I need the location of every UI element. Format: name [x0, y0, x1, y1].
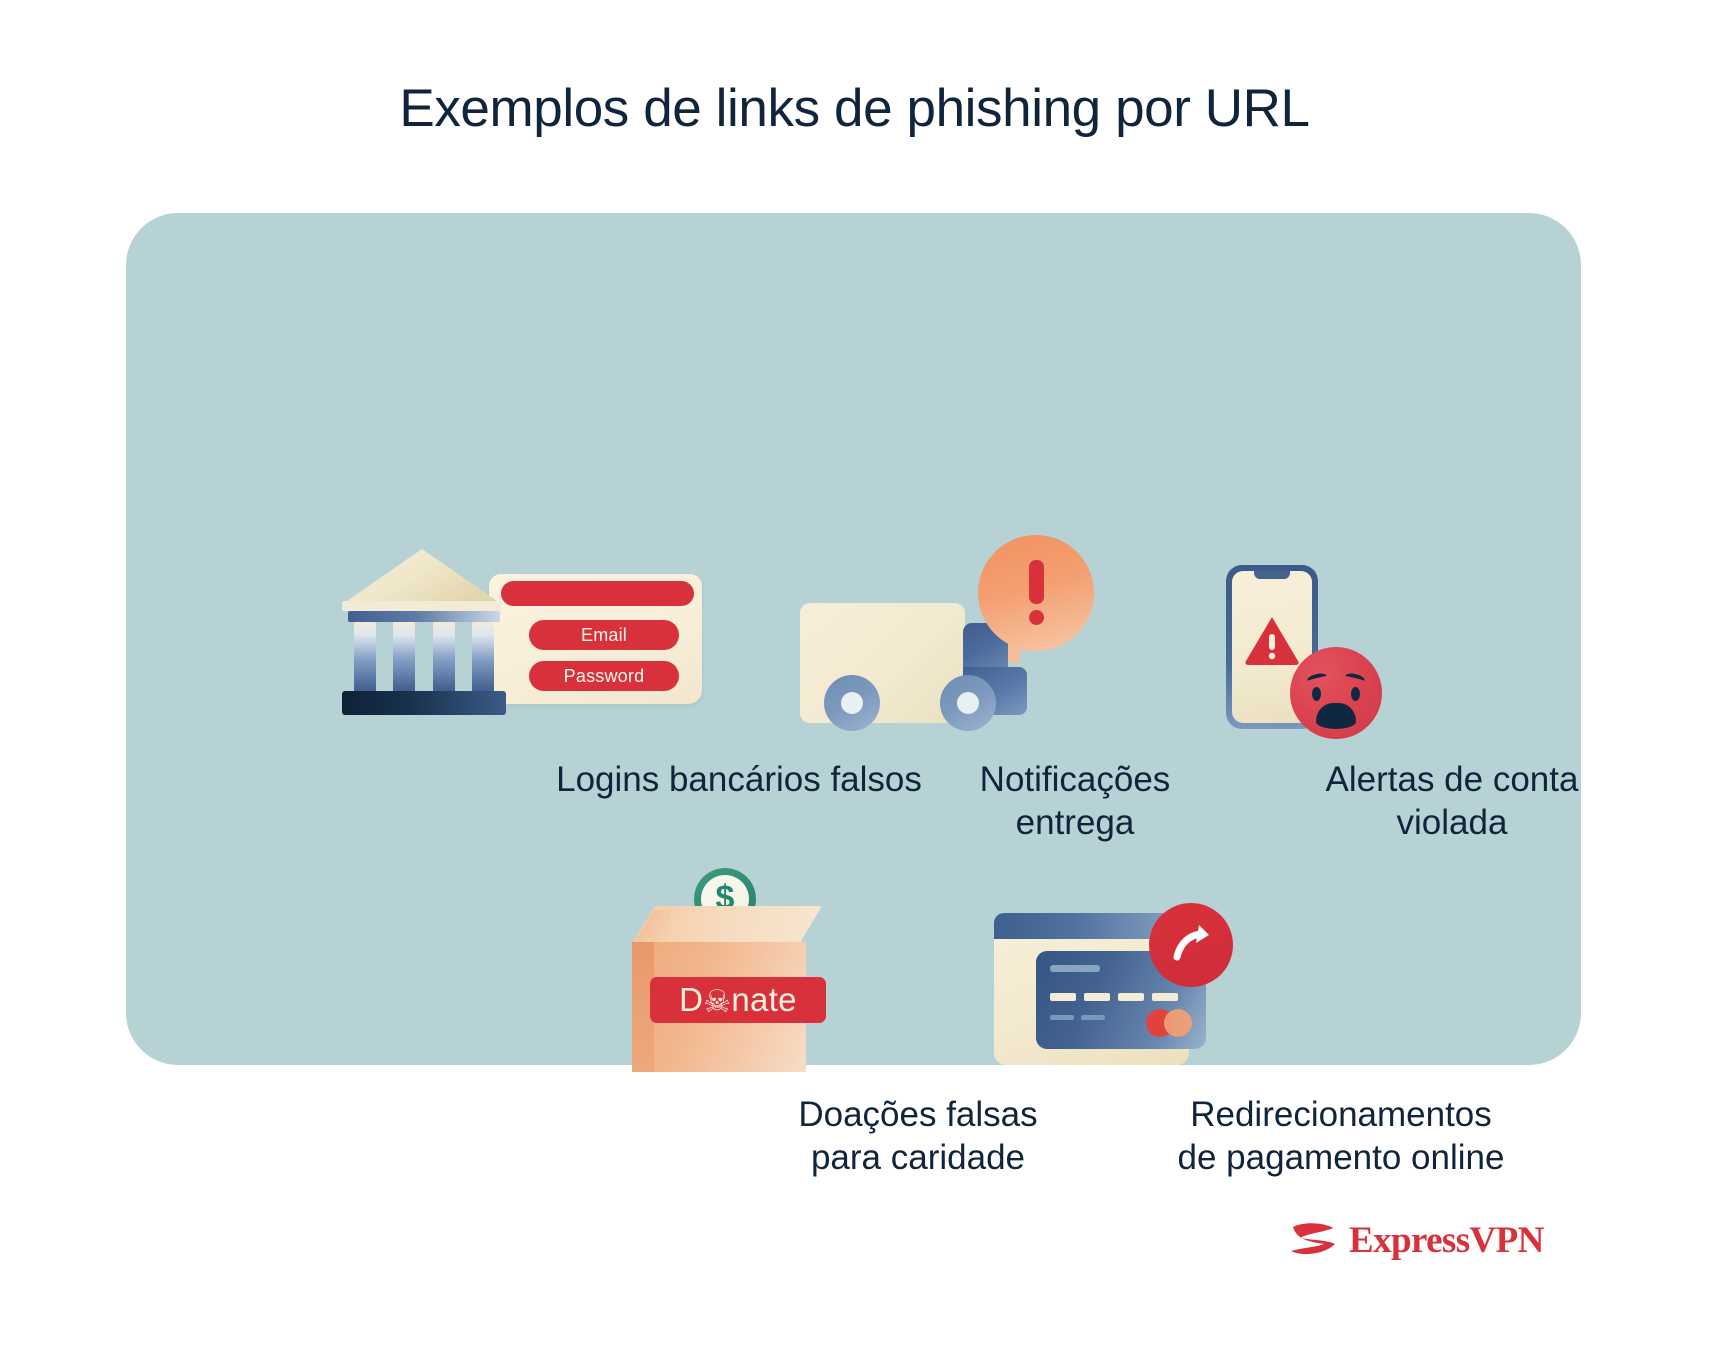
- credit-card-valid-thru: [1050, 1015, 1110, 1020]
- donate-label-prefix: D: [679, 981, 703, 1019]
- bank-base: [342, 691, 506, 715]
- password-field[interactable]: Password: [529, 661, 679, 691]
- credit-card-number: [1050, 993, 1190, 1001]
- item-online-payment-redirects: [994, 903, 1259, 1073]
- exclamation-bar: [1029, 560, 1044, 604]
- login-card-titlebar: [501, 581, 694, 606]
- sad-face-eye: [1351, 687, 1360, 701]
- phone-notch: [1254, 571, 1290, 579]
- mastercard-logo-icon: [1146, 1009, 1198, 1037]
- exclamation-dot: [1029, 610, 1044, 625]
- label-online-payment-redirects: Redirecionamentos de pagamento online: [1111, 1093, 1571, 1179]
- credit-card-strip: [1050, 965, 1100, 972]
- credit-card-small-line: [1050, 1015, 1074, 1020]
- credit-card-digit-group: [1152, 993, 1178, 1001]
- redirect-arrow-icon: [1167, 921, 1215, 969]
- label-breached-account-alerts: Alertas de conta violada: [1272, 758, 1632, 844]
- item-fake-bank-logins: Email Password: [342, 549, 702, 724]
- sad-face-eyebrow: [1344, 672, 1366, 686]
- donate-button[interactable]: D☠nate: [650, 977, 826, 1023]
- mastercard-circle-orange: [1164, 1009, 1192, 1037]
- email-field[interactable]: Email: [529, 620, 679, 650]
- label-delivery-notifications: Notificações entrega: [910, 758, 1240, 844]
- donate-label-suffix: nate: [731, 981, 796, 1019]
- item-breached-account-alerts: [1216, 565, 1396, 740]
- warning-triangle-icon: [1243, 615, 1301, 667]
- expressvpn-logo-icon: [1285, 1218, 1339, 1262]
- bank-lintel: [348, 611, 500, 622]
- infographic-panel: Email Password Logins bancários falsos: [126, 213, 1581, 1065]
- credit-card-small-line: [1081, 1015, 1105, 1020]
- credit-card-digit-group: [1084, 993, 1110, 1001]
- sad-face-mouth: [1316, 703, 1356, 729]
- page-title: Exemplos de links de phishing por URL: [0, 78, 1709, 139]
- label-fake-charity-donations: Doações falsas para caridade: [718, 1093, 1118, 1179]
- truck-wheel: [940, 675, 996, 731]
- item-fake-charity-donations: $ D☠nate: [614, 868, 839, 1083]
- skull-icon: ☠: [703, 986, 731, 1017]
- sad-face-eyebrow: [1306, 672, 1328, 686]
- bank-roof-icon: [342, 549, 502, 611]
- credit-card-digit-group: [1118, 993, 1144, 1001]
- expressvpn-logo-text: ExpressVPN: [1349, 1222, 1544, 1259]
- label-fake-bank-logins: Logins bancários falsos: [504, 758, 974, 801]
- sad-face-eye: [1312, 687, 1321, 701]
- truck-wheel: [824, 675, 880, 731]
- credit-card-digit-group: [1050, 993, 1076, 1001]
- expressvpn-logo[interactable]: ExpressVPN: [1285, 1218, 1544, 1262]
- redirect-button[interactable]: [1149, 903, 1233, 987]
- sad-face-icon: [1290, 647, 1382, 739]
- item-delivery-notifications: [792, 535, 1112, 730]
